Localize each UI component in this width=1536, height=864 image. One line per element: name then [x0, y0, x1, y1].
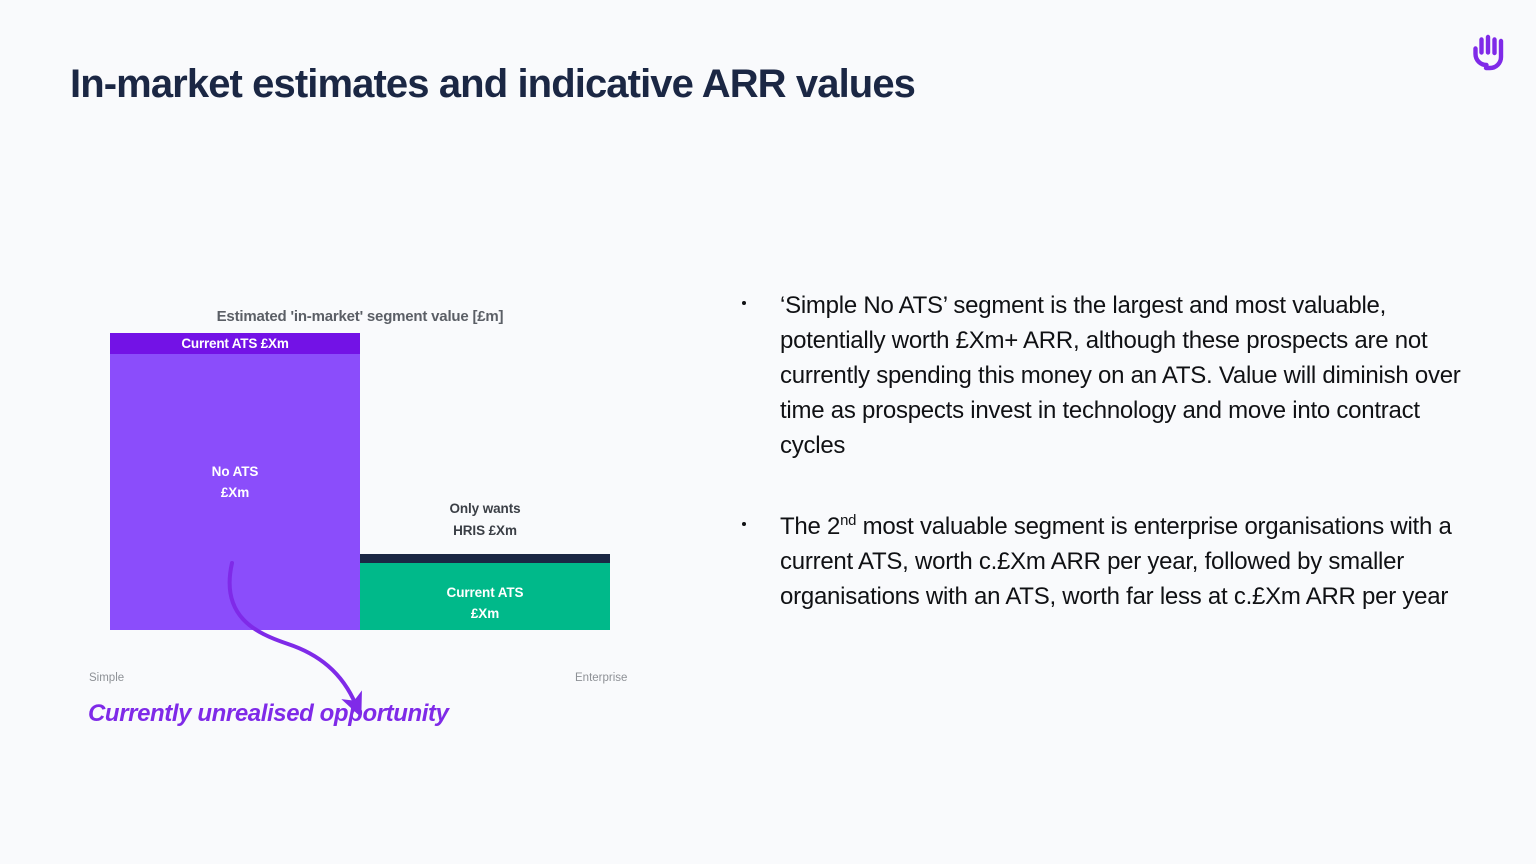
bullet-text-1: ‘Simple No ATS’ segment is the largest a…	[780, 288, 1482, 463]
annotation-caption: Currently unrealised opportunity	[88, 700, 449, 728]
segment-simple-no-ats-label-line1: No ATS	[110, 461, 360, 482]
segment-enterprise-current-ats-label-line2: £Xm	[360, 603, 610, 624]
bullet-2-suffix: most valuable segment is enterprise orga…	[780, 513, 1452, 610]
segment-enterprise-hris-label-line1: Only wants	[360, 498, 610, 520]
bullet-2-superscript: nd	[840, 513, 856, 529]
bullet-list: ‘Simple No ATS’ segment is the largest a…	[742, 288, 1482, 660]
segment-simple-current-ats-label: Current ATS £Xm	[181, 336, 288, 351]
slide-root: In-market estimates and indicative ARR v…	[0, 0, 1536, 864]
segment-enterprise-hris-band	[360, 554, 610, 563]
bullet-text-2: The 2nd most valuable segment is enterpr…	[780, 509, 1482, 614]
segment-enterprise-hris-label: Only wants HRIS £Xm	[360, 498, 610, 542]
segment-enterprise-current-ats-label: Current ATS £Xm	[360, 582, 610, 624]
segment-enterprise-hris-label-line2: HRIS £Xm	[360, 520, 610, 542]
bullet-dot-icon	[742, 288, 780, 305]
list-item: ‘Simple No ATS’ segment is the largest a…	[742, 288, 1482, 463]
chart: Estimated 'in-market' segment value [£m]…	[70, 300, 670, 720]
bullet-dot-icon	[742, 509, 780, 526]
bullet-1-body: ‘Simple No ATS’ segment is the largest a…	[780, 292, 1461, 459]
axis-label-simple: Simple	[89, 672, 124, 684]
bar-simple: Current ATS £Xm No ATS £Xm	[110, 333, 360, 630]
chart-title: Estimated 'in-market' segment value [£m]	[110, 308, 610, 325]
chart-plot-area: Current ATS £Xm No ATS £Xm Only wants HR…	[70, 333, 670, 630]
segment-simple-current-ats: Current ATS £Xm	[110, 333, 360, 354]
segment-enterprise-current-ats-label-line1: Current ATS	[360, 582, 610, 603]
axis-label-enterprise: Enterprise	[575, 672, 627, 684]
bullet-2-prefix: The 2	[780, 513, 840, 540]
bar-enterprise: Current ATS £Xm	[360, 554, 610, 630]
list-item: The 2nd most valuable segment is enterpr…	[742, 509, 1482, 614]
page-title: In-market estimates and indicative ARR v…	[70, 62, 915, 107]
segment-simple-no-ats-label: No ATS £Xm	[110, 461, 360, 503]
hand-logo-icon	[1460, 24, 1516, 80]
segment-simple-no-ats-label-line2: £Xm	[110, 482, 360, 503]
